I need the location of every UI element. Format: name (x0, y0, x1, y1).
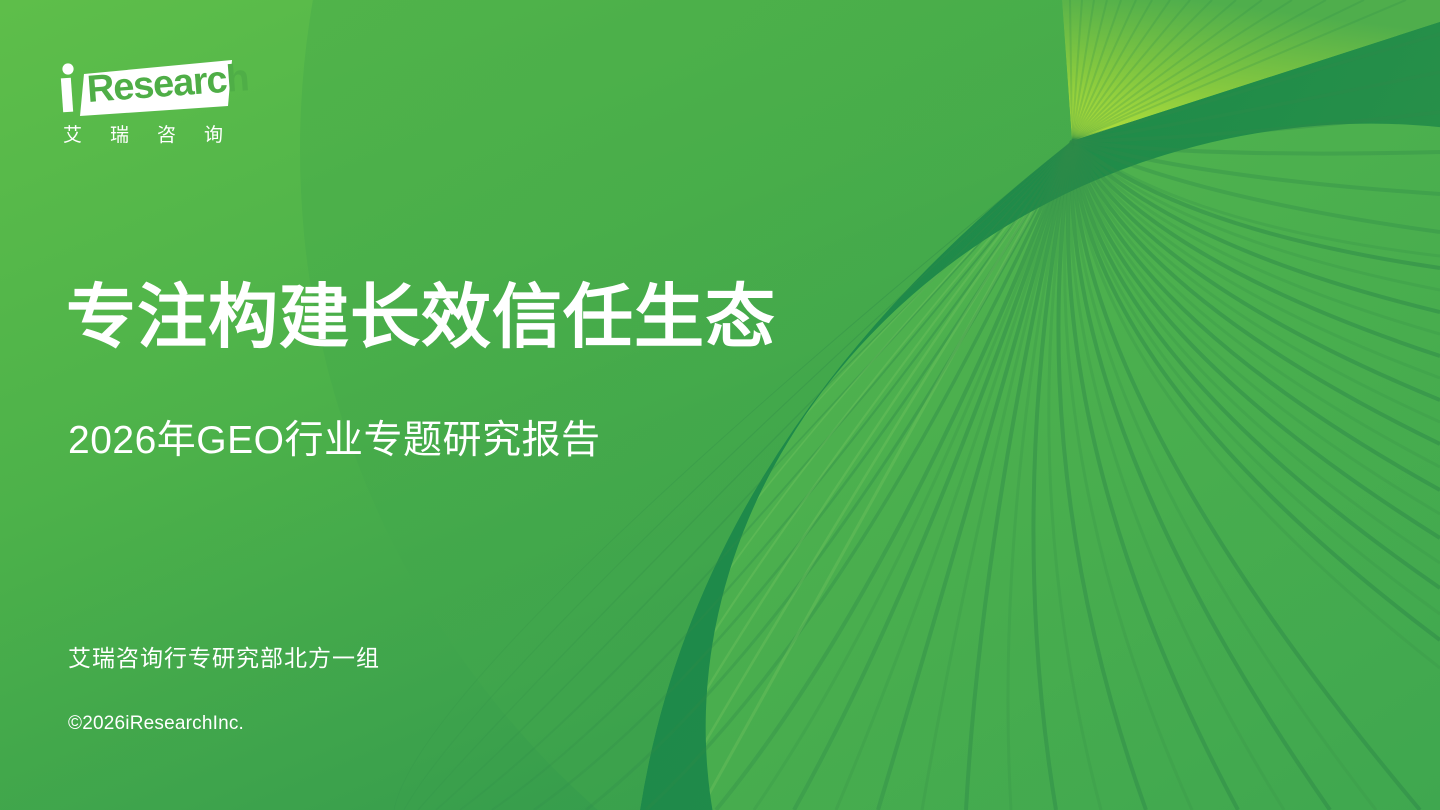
iresearch-logo: Research 艾瑞咨询 (60, 58, 290, 158)
author-line: 艾瑞咨询行专研究部北方一组 (68, 645, 380, 673)
report-cover-slide: Research 艾瑞咨询 专注构建长效信任生态 2026年GEO行业专题研究报… (0, 0, 1440, 810)
logo-letter-i (61, 63, 74, 112)
logo-chinese-text: 艾瑞咨询 (63, 126, 251, 145)
copyright-line: ©2026iResearchInc. (68, 713, 244, 736)
iresearch-logo-mark: Research (60, 58, 290, 120)
page-title: 专注构建长效信任生态 (66, 278, 776, 356)
page-subtitle: 2026年GEO行业专题研究报告 (68, 418, 600, 465)
